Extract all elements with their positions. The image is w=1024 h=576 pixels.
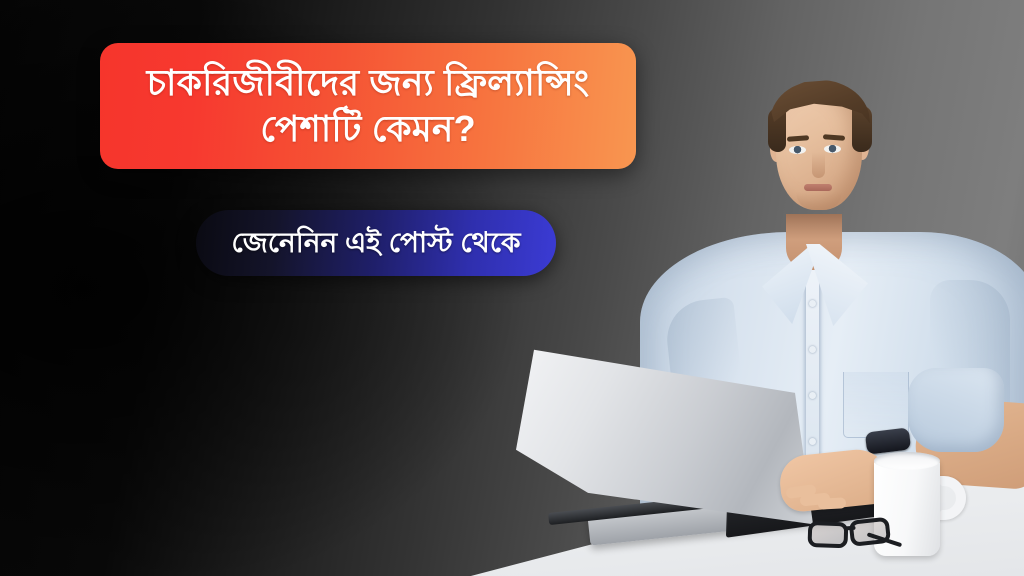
eye-left	[789, 146, 806, 154]
shirt-button	[809, 300, 816, 307]
finger	[818, 497, 847, 509]
headline-line-1: চাকরিজীবীদের জন্য ফ্রিল্যান্সিং	[147, 60, 590, 106]
mug-rim	[874, 452, 940, 470]
neck-shadow	[786, 214, 842, 240]
shirt-button	[809, 438, 816, 445]
thumbnail-canvas: চাকরিজীবীদের জন্য ফ্রিল্যান্সিং পেশাটি ক…	[0, 0, 1024, 576]
headline-badge: চাকরিজীবীদের জন্য ফ্রিল্যান্সিং পেশাটি ক…	[100, 43, 636, 169]
mouth	[804, 184, 832, 191]
subheadline-text: জেনেনিন এই পোস্ট থেকে	[231, 229, 520, 257]
headline-line-2: পেশাটি কেমন?	[260, 106, 476, 152]
eye-right	[824, 145, 841, 153]
subheadline-badge: জেনেনিন এই পোস্ট থেকে	[196, 210, 556, 276]
nose	[812, 152, 825, 178]
glasses-lens-left	[807, 521, 848, 548]
shirt-button	[809, 392, 816, 399]
glasses-bridge	[845, 526, 855, 531]
eyeglasses	[805, 511, 900, 559]
shirt-button	[809, 346, 816, 353]
rolled-sleeve	[908, 368, 1004, 452]
